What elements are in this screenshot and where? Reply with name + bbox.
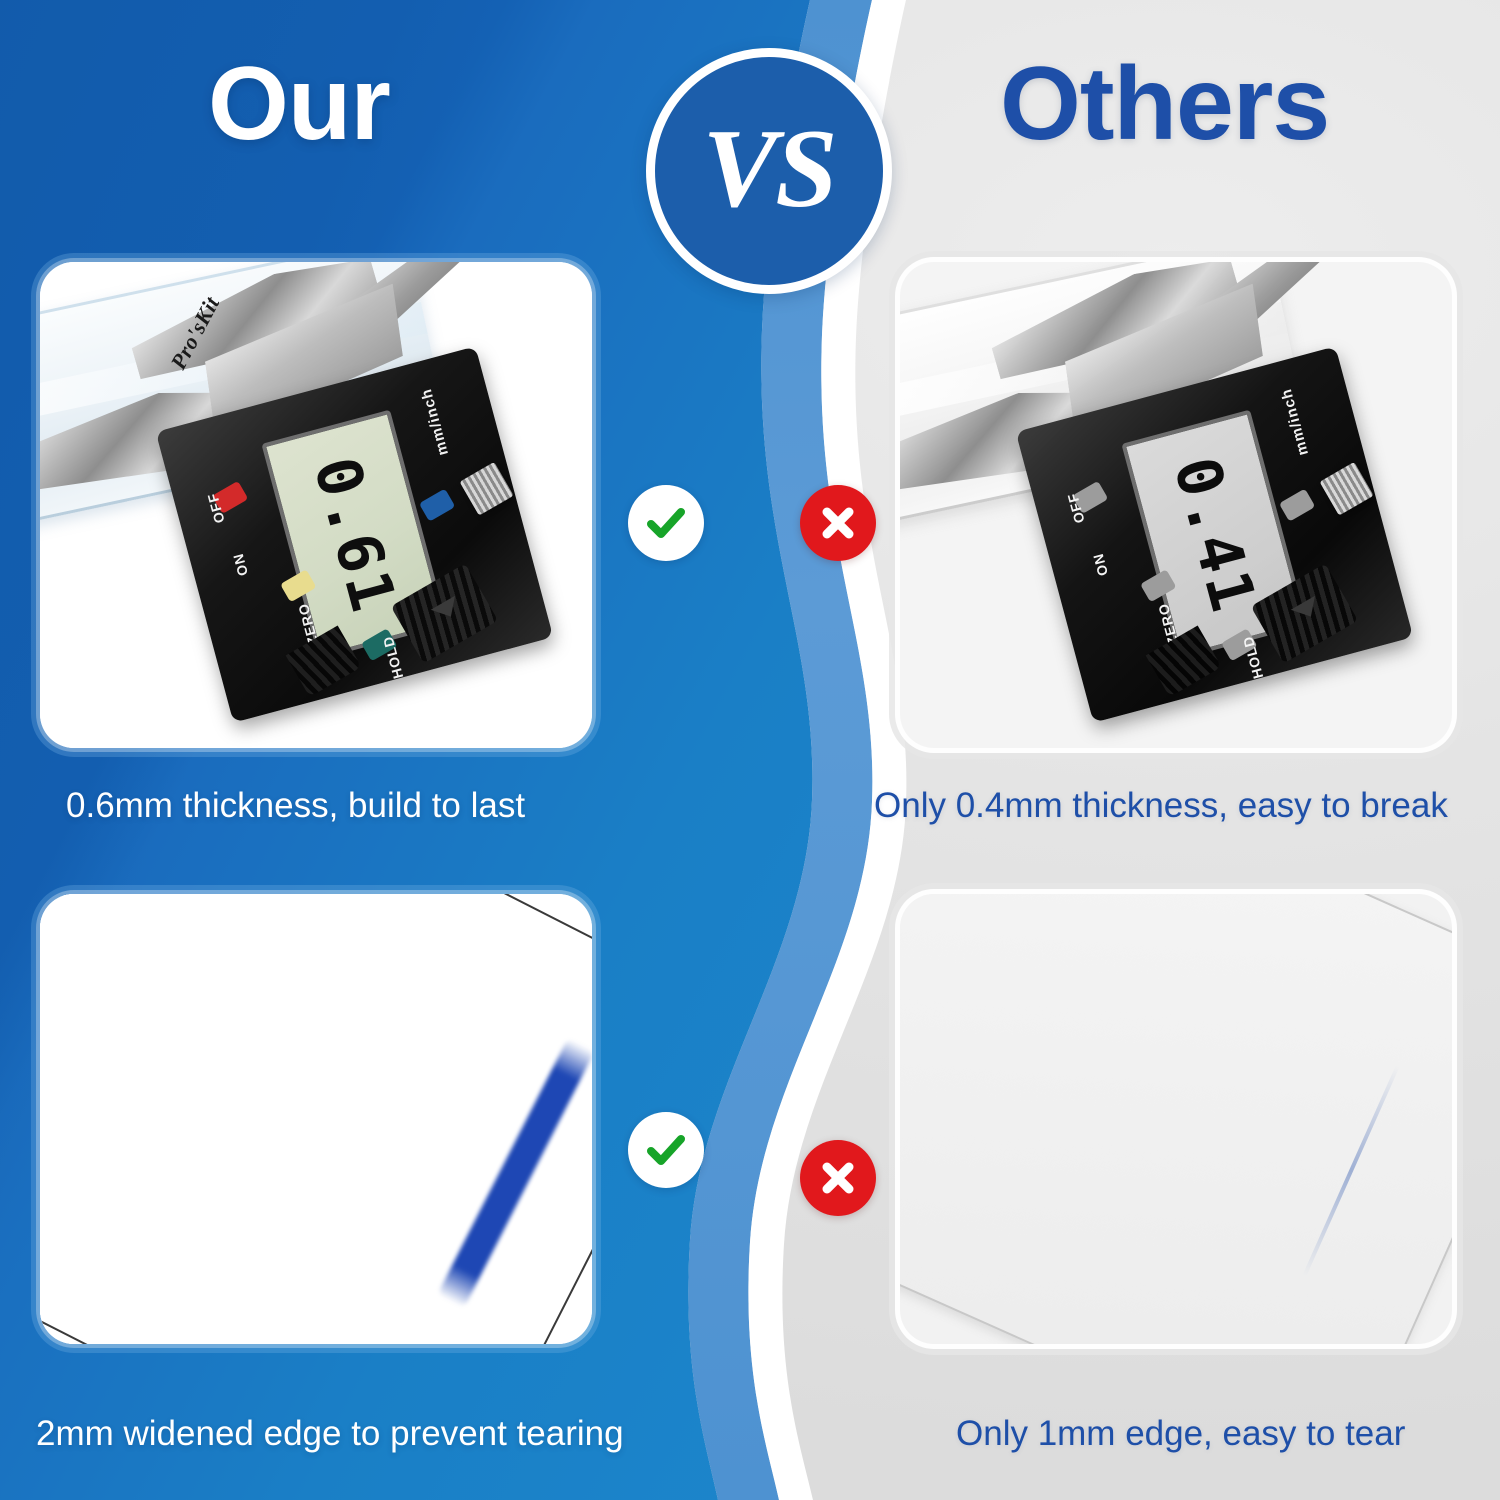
status-badge-cross-thickness [800, 485, 876, 561]
caption-our-edge: 2mm widened edge to prevent tearing [36, 1413, 624, 1455]
edge-photo-others [900, 894, 1452, 1344]
caption-others-thickness: Only 0.4mm thickness, easy to break [874, 785, 1448, 827]
photo-card-others-edge [900, 894, 1452, 1344]
photo-card-our-edge [40, 894, 592, 1344]
caption-our-thickness: 0.6mm thickness, build to last [66, 785, 525, 827]
caption-others-edge: Only 1mm edge, easy to tear [956, 1413, 1405, 1455]
comparison-infographic: Our Others VS Pro'sKit 0.61 mm OFF [0, 0, 1500, 1500]
check-icon [642, 1126, 690, 1174]
caliper-lcd-value: 0.41 [1159, 449, 1270, 620]
edge-photo-our [40, 894, 592, 1344]
vs-badge-label: VS [703, 113, 836, 225]
status-badge-cross-edge [800, 1140, 876, 1216]
check-icon [642, 499, 690, 547]
caliper-label-on: ON [1090, 550, 1111, 576]
protector-outline-inner [40, 894, 592, 1344]
caliper-unit-button [1279, 488, 1315, 521]
caliper-thumb-wheel [1319, 461, 1373, 515]
caliper-photo-others: 0.41 mm OFF ON ZERO HOLD mm/inch [900, 262, 1452, 748]
vs-badge: VS [646, 48, 892, 294]
photo-card-others-thickness: 0.41 mm OFF ON ZERO HOLD mm/inch [900, 262, 1452, 748]
heading-others: Others [1000, 52, 1329, 156]
status-badge-check-edge [628, 1112, 704, 1188]
close-icon [817, 502, 859, 544]
heading-our: Our [208, 52, 390, 156]
caliper-label-on: ON [230, 550, 251, 576]
protector-plain-sheet [900, 894, 1452, 1344]
caliper-photo-our: Pro'sKit 0.61 mm OFF ON ZERO HOLD mm/inc… [40, 262, 592, 748]
status-badge-check-thickness [628, 485, 704, 561]
caliper-unit-button [419, 488, 455, 521]
caliper-label-hold: HOLD [380, 634, 407, 680]
close-icon [817, 1157, 859, 1199]
caliper-label-mm-inch: mm/inch [418, 386, 452, 457]
caliper-lcd-value: 0.61 [299, 449, 410, 620]
caliper-thumb-wheel [459, 461, 513, 515]
photo-card-our-thickness: Pro'sKit 0.61 mm OFF ON ZERO HOLD mm/inc… [40, 262, 592, 748]
caliper-label-mm-inch: mm/inch [1278, 386, 1312, 457]
caliper-label-hold: HOLD [1240, 634, 1267, 680]
